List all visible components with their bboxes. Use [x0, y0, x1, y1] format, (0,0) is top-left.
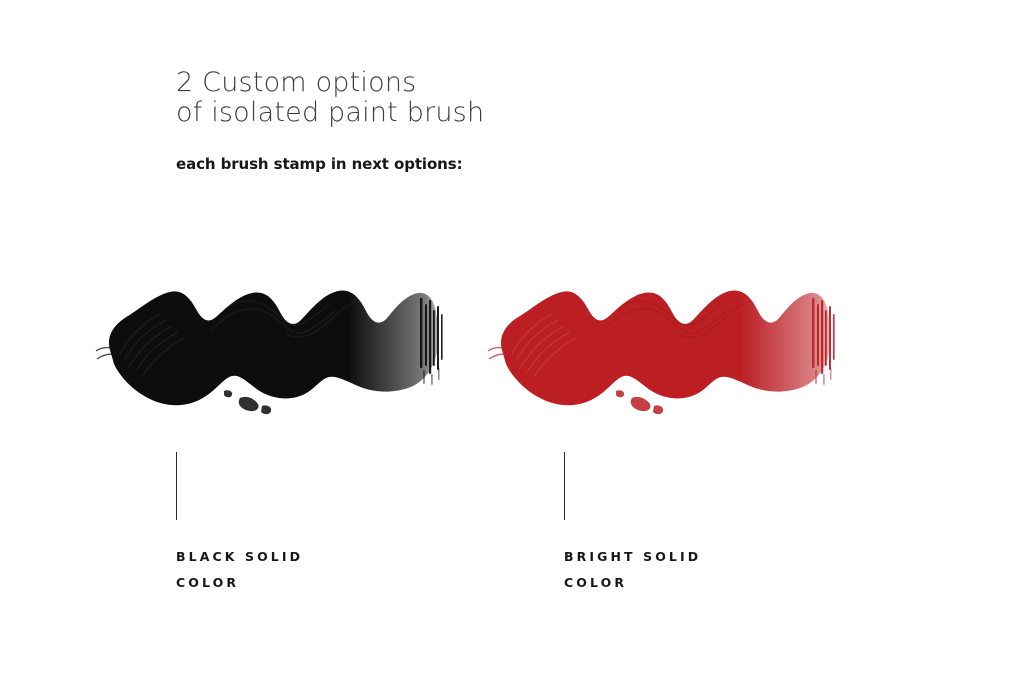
caption-label: BRIGHT SOLID COLOR [564, 544, 864, 596]
caption-rule [176, 452, 177, 520]
caption-rule [564, 452, 565, 520]
swatch-bright-solid [482, 262, 842, 432]
paint-brush-stroke-icon [482, 262, 842, 432]
heading-block: 2 Custom options of isolated paint brush [176, 68, 696, 128]
slide-canvas: 2 Custom options of isolated paint brush… [0, 0, 1024, 685]
caption-label: BLACK SOLID COLOR [176, 544, 476, 596]
brush-speckles [224, 390, 271, 414]
caption-bright-solid: BRIGHT SOLID COLOR [564, 452, 864, 596]
swatch-black-solid [90, 262, 450, 432]
caption-black-solid: BLACK SOLID COLOR [176, 452, 476, 596]
page-title: 2 Custom options of isolated paint brush [176, 68, 696, 128]
paint-brush-stroke-icon [90, 262, 450, 432]
brush-speckles [616, 390, 663, 414]
subtitle: each brush stamp in next options: [176, 155, 462, 173]
